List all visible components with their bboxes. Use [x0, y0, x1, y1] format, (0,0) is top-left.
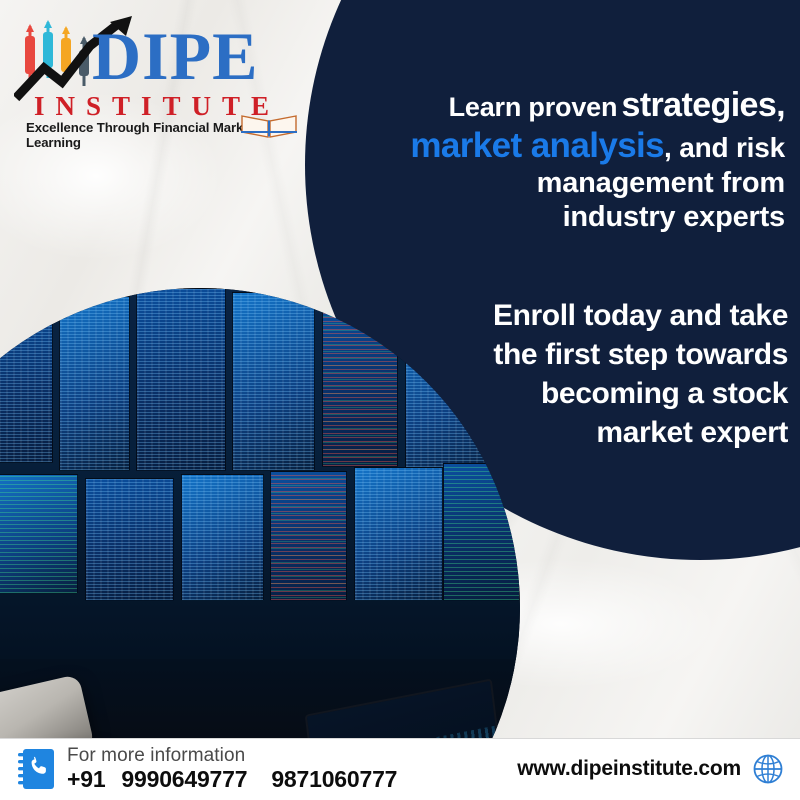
website-url[interactable]: www.dipeinstitute.com — [517, 757, 741, 781]
headline-text-and-risk: , and risk — [664, 132, 785, 163]
headline-secondary: Enroll today and take the first step tow… — [420, 296, 788, 452]
headline-secondary-line-1: Enroll today and take — [420, 296, 788, 335]
headline-secondary-line-4: market expert — [420, 413, 788, 452]
headline-primary: Learn proven strategies, market analysis… — [330, 86, 785, 235]
promotional-poster: DIPE INSTITUTE Excellence Through Financ… — [0, 0, 800, 800]
phone-number-primary[interactable]: 9990649777 — [121, 766, 247, 792]
headline-text-learn-proven: Learn proven — [449, 92, 618, 122]
headline-primary-line-3: management from — [330, 167, 785, 201]
contact-text-group: For more information +919990649777987106… — [67, 746, 397, 792]
headline-text-strategies: strategies, — [622, 86, 785, 124]
footer-divider — [0, 738, 800, 739]
headline-secondary-line-3: becoming a stock — [420, 374, 788, 413]
logo-dipe-text: DIPE — [92, 22, 258, 90]
logo-wordmark: DIPE — [92, 22, 258, 90]
contact-label: For more information — [67, 746, 397, 766]
headline-primary-line-2: market analysis, and risk — [330, 126, 785, 167]
website-block[interactable]: www.dipeinstitute.com — [517, 753, 784, 785]
open-book-icon — [240, 112, 298, 138]
phonebook-icon — [16, 748, 56, 790]
globe-icon — [752, 753, 784, 785]
country-code: +91 — [67, 766, 105, 792]
footer-bar: For more information +919990649777987106… — [0, 738, 800, 800]
headline-text-market-analysis: market analysis — [410, 126, 664, 165]
headline-primary-line-4: industry experts — [330, 201, 785, 235]
phone-number-secondary[interactable]: 9871060777 — [271, 766, 397, 792]
headline-primary-line-1: Learn proven strategies, — [330, 86, 785, 126]
brand-logo[interactable]: DIPE INSTITUTE Excellence Through Financ… — [14, 8, 306, 138]
contact-phone-numbers[interactable]: +9199906497779871060777 — [67, 766, 397, 792]
contact-block[interactable]: For more information +919990649777987106… — [16, 746, 397, 792]
headline-secondary-line-2: the first step towards — [420, 335, 788, 374]
